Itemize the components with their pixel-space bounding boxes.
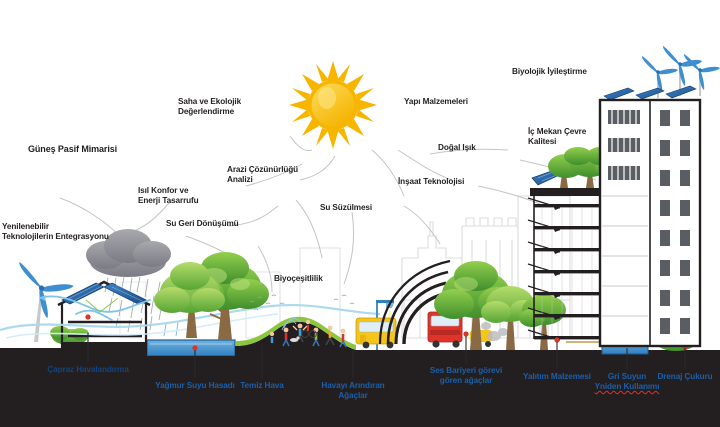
- callout-drenaj-cukuru: Drenaj Çukuru: [615, 372, 720, 382]
- label-saha-ve-ekolojik-degerlendirme: Saha ve Ekolojik Değerlendirme: [178, 97, 241, 117]
- sun-icon: [289, 61, 377, 149]
- hotspot-marker: [85, 314, 90, 319]
- label-su-geri-donusumu: Su Geri Dönüşümü: [166, 219, 239, 229]
- label-su-suzulmesi: Su Süzülmesi: [320, 203, 372, 213]
- solar-panel-array-tower: [604, 86, 696, 100]
- callout-text-line-1: Çapraz Havalandırma: [47, 365, 128, 374]
- label-insaat-teknolojisi: İnşaat Teknolojisi: [398, 177, 464, 187]
- callout-text-line-2: Yniden Kullanımı: [595, 382, 660, 391]
- label-yenilenebilir-teknolojilerin-entegrasyonu: Yenilenebilir Teknolojilerin Entegrasyon…: [2, 222, 109, 242]
- callout-capraz-havalandirma: Çapraz Havalandırma: [18, 365, 158, 375]
- label-ic-mekan-cevre-kalitesi: İç Mekan Çevre Kalitesi: [528, 127, 586, 147]
- label-biyocesitlilik: Biyoçeşitlilik: [274, 274, 323, 284]
- callout-text-line-1: Drenaj Çukuru: [657, 372, 712, 381]
- label-gunes-pasif-mimarisi: Güneş Pasif Mimarisi: [28, 144, 117, 155]
- label-yapi-malzemeleri: Yapı Malzemeleri: [404, 97, 468, 107]
- callout-text-line-1: Havayı Arındıran Ağaçlar: [321, 381, 384, 400]
- label-arazi-cozunurlugu-analizi: Arazi Çözünürlüğü Analizi: [227, 165, 298, 185]
- label-isil-konfor-ve-enerji-tasarrufu: Isıl Konfor ve Enerji Tasarrufu: [138, 186, 199, 206]
- illustration-artboard: [0, 0, 720, 427]
- label-dogal-isik: Doğal Işık: [438, 143, 476, 153]
- ground-line-right: [356, 350, 720, 354]
- tree-right-edge: [519, 295, 566, 350]
- hotspot-marker: [463, 331, 468, 336]
- infographic-canvas: Güneş Pasif MimarisiYenilenebilir Teknol…: [0, 0, 720, 427]
- hotspot-marker: [192, 345, 197, 350]
- callout-text-line-1: Temiz Hava: [240, 381, 283, 390]
- high-rise-apartment-tower: [600, 46, 720, 346]
- label-biyolojik-iyilestirme: Biyolojik İyileştirme: [512, 67, 587, 77]
- rain-cloud-icon: [86, 229, 171, 332]
- hotspot-marker: [554, 337, 559, 342]
